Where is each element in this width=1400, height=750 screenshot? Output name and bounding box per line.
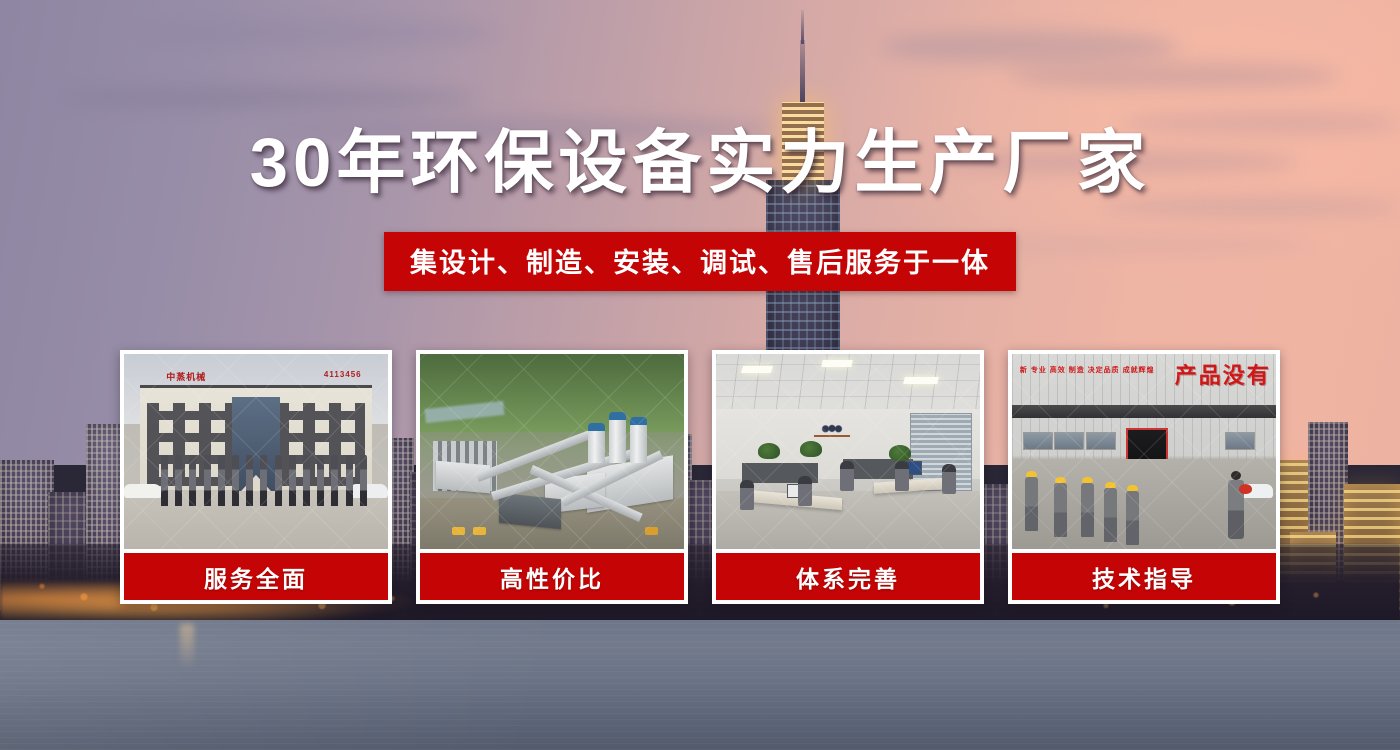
supervisor-figure xyxy=(1228,471,1244,539)
workshop-workers-training-photo: 产品没有 新 专业 高效 制造 决定品质 成就辉煌 xyxy=(1012,354,1276,549)
feature-card[interactable]: 高性价比 xyxy=(416,350,688,604)
aerial-factory-plant-photo xyxy=(420,354,684,549)
building-sign-text: 中蒸机械 xyxy=(166,370,206,383)
feature-card-label: 体系完善 xyxy=(716,553,980,600)
river-water xyxy=(0,620,1400,750)
feature-card[interactable]: 中蒸机械 4113456 服务全面 xyxy=(120,350,392,604)
worker-figure xyxy=(1054,477,1067,537)
cloud xyxy=(1010,62,1340,90)
cloud xyxy=(880,30,1180,64)
subtitle-banner: 集设计、制造、安装、调试、售后服务于一体 xyxy=(384,232,1016,291)
staff-lineup xyxy=(161,455,367,506)
feature-card-label: 技术指导 xyxy=(1012,553,1276,600)
page-title: 30年环保设备实力生产厂家 xyxy=(0,128,1400,197)
workshop-slogan-text: 新 专业 高效 制造 决定品质 成就辉煌 xyxy=(1020,366,1155,377)
feature-card[interactable]: 体系完善 xyxy=(712,350,984,604)
company-headquarters-building-photo: 中蒸机械 4113456 xyxy=(124,354,388,549)
cloud xyxy=(60,88,480,108)
workshop-banner-text: 产品没有 xyxy=(1175,358,1271,390)
office-interior-staff-photo xyxy=(716,354,980,549)
worker-figure xyxy=(1081,477,1094,537)
tower-spire xyxy=(800,40,805,102)
wall-decal-icon xyxy=(814,413,850,437)
feature-card-label: 高性价比 xyxy=(420,553,684,600)
promo-banner: 30年环保设备实力生产厂家 集设计、制造、安装、调试、售后服务于一体 中蒸机械 … xyxy=(0,0,1400,750)
tower-antenna-icon xyxy=(801,10,804,44)
worker-figure xyxy=(1025,471,1038,537)
feature-card-list: 中蒸机械 4113456 服务全面 xyxy=(120,350,1280,604)
cloud xyxy=(140,20,500,46)
worker-figure xyxy=(1126,485,1139,537)
feature-card[interactable]: 产品没有 新 专业 高效 制造 决定品质 成就辉煌 技术指导 xyxy=(1008,350,1280,604)
feature-card-label: 服务全面 xyxy=(124,553,388,600)
worker-figure xyxy=(1104,482,1117,537)
building-phone-text: 4113456 xyxy=(324,370,362,379)
water-reflection xyxy=(180,624,194,670)
